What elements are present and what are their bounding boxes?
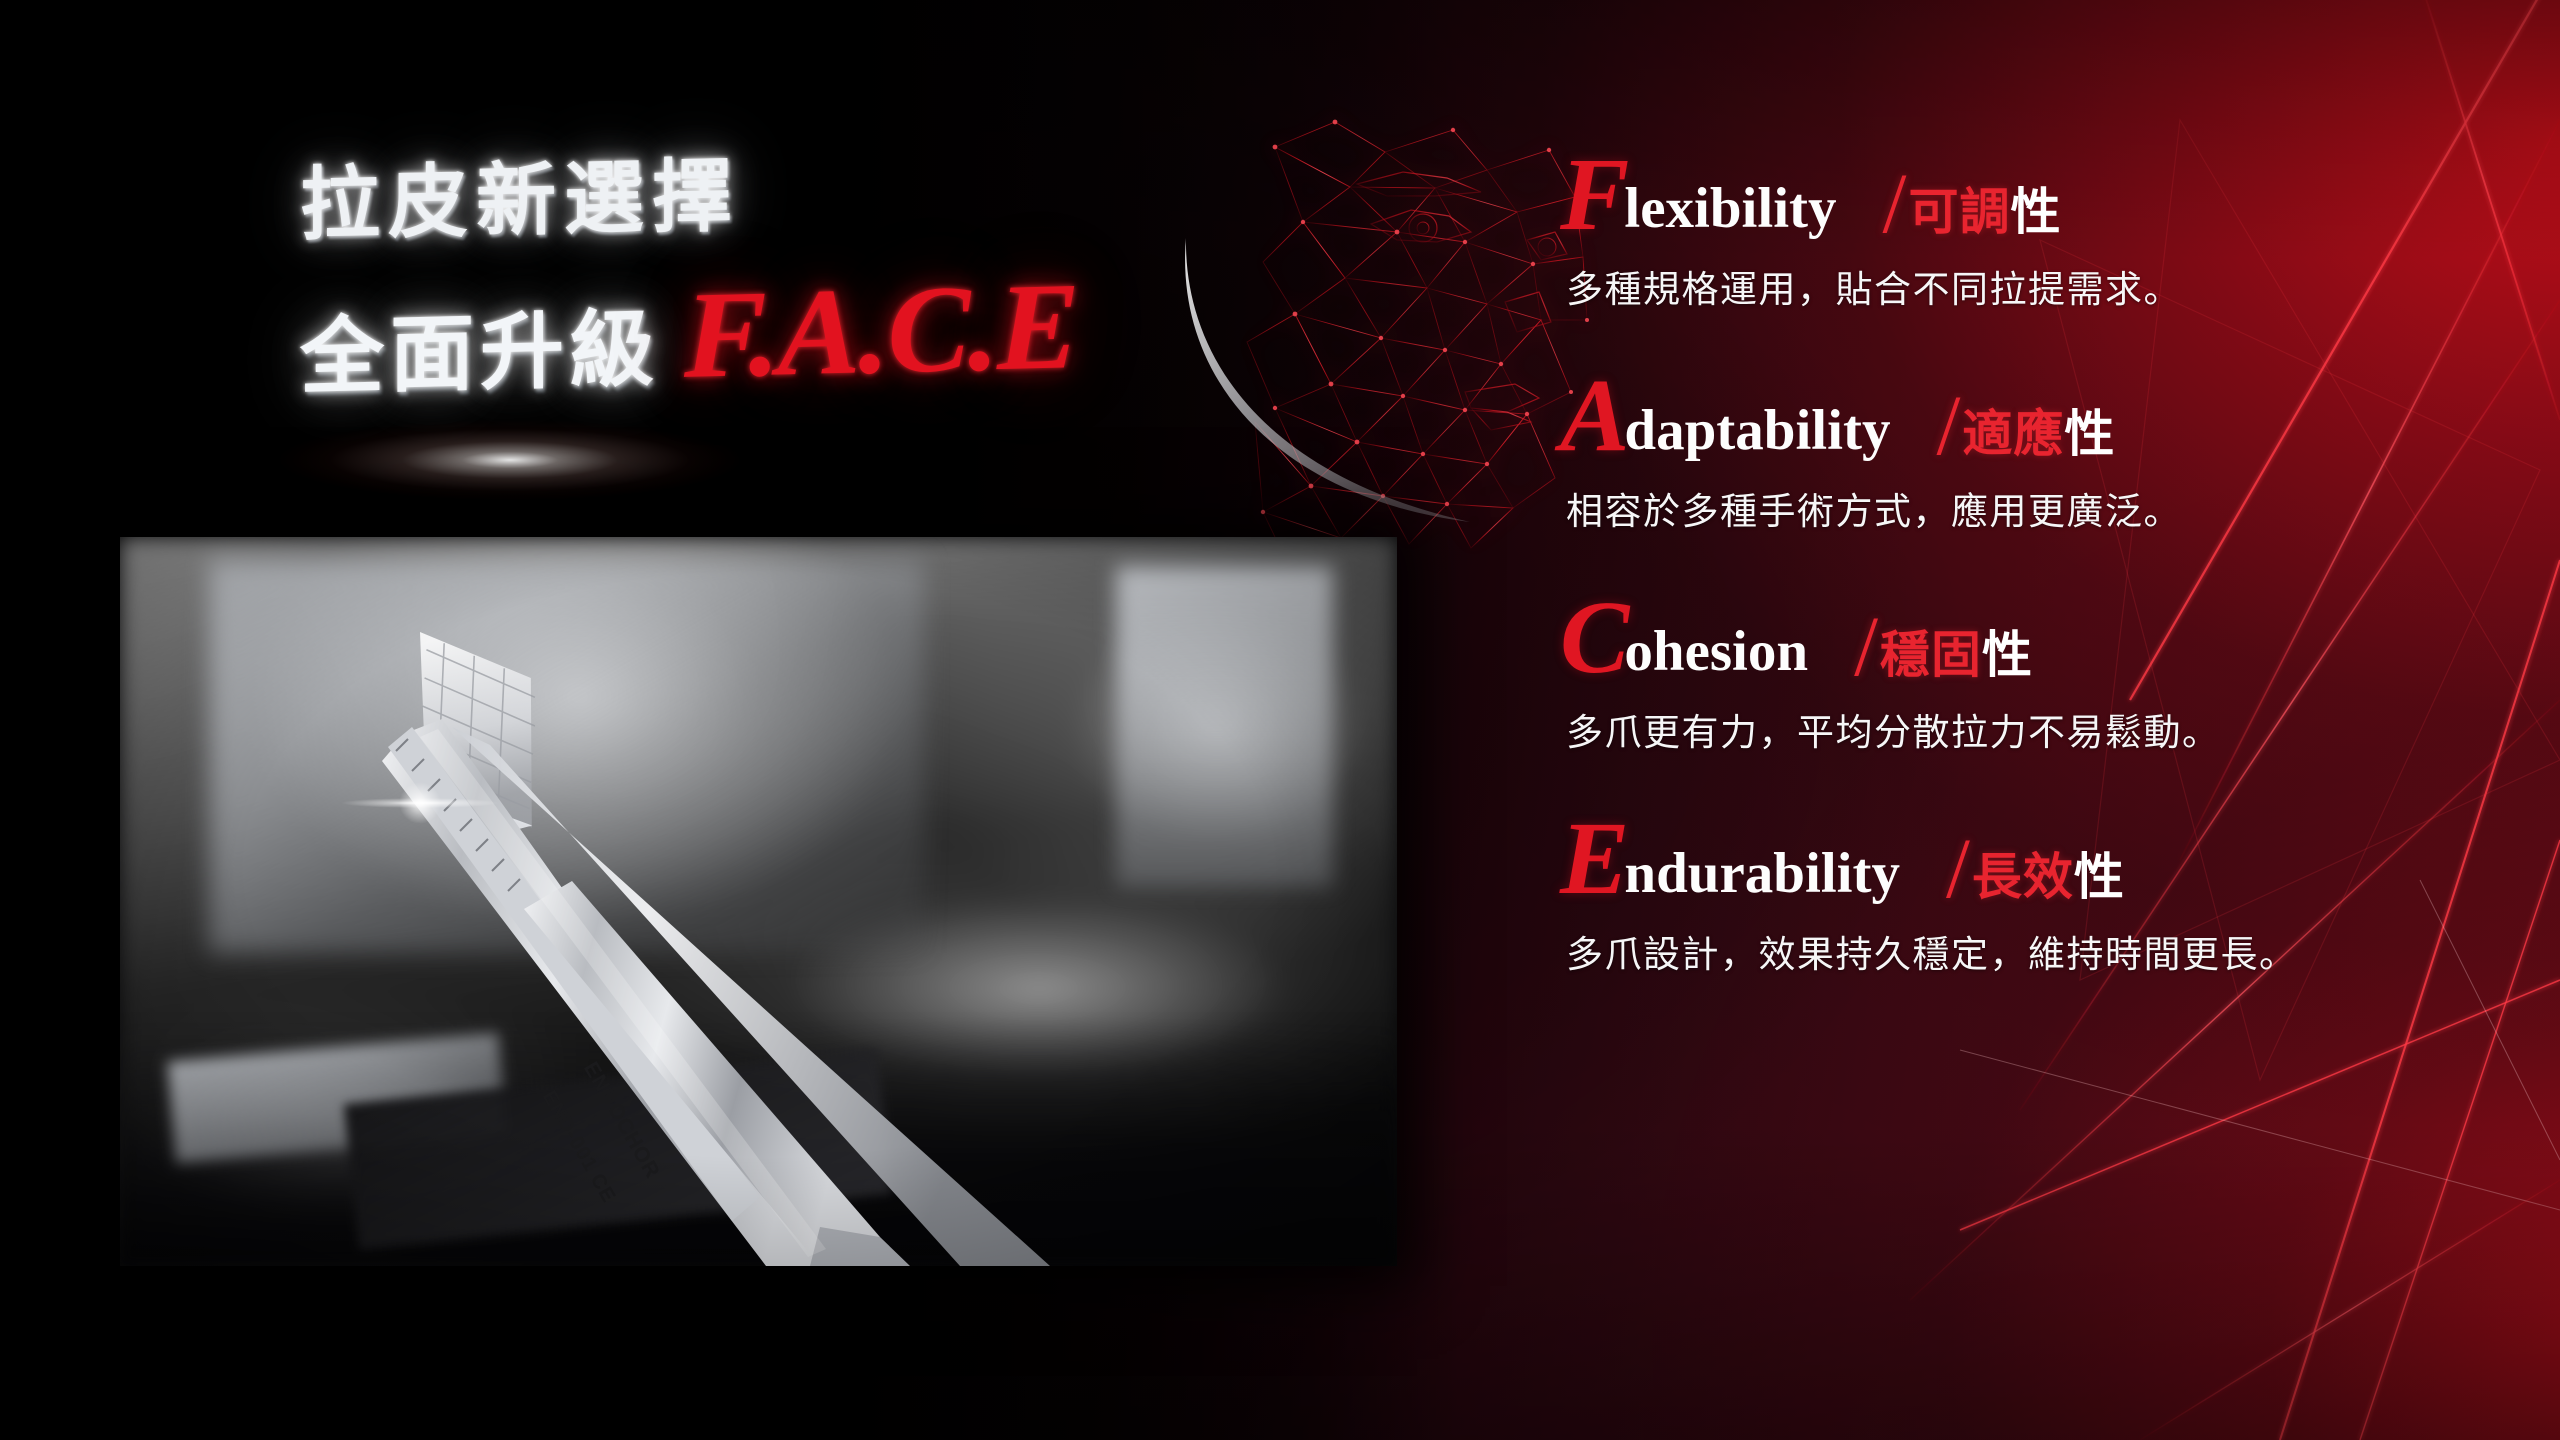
feature-description: 多爪更有力，平均分散拉力不易鬆動。 (1566, 702, 2520, 756)
feature-word-remainder: ndurability (1624, 845, 1900, 904)
feature-initial-letter: A (1560, 371, 1626, 460)
feature-chinese-group: / 長效 性 (1946, 835, 2125, 904)
feature-word-remainder: ohesion (1624, 623, 1808, 682)
feature-list: F lexibility / 可調 性 多種規格運用，貼合不同拉提需求。 A d… (1560, 150, 2520, 1036)
hero-photo: ENDOCHOR END-001 CE (120, 537, 1397, 1266)
feature-initial-letter: C (1560, 593, 1626, 682)
title-face-wordmark: F.A.C.E (684, 255, 1078, 407)
feature-chinese-red: 長效 (1972, 852, 2074, 902)
page-title: 拉皮新選擇 全面升級 F.A.C.E (300, 130, 1300, 404)
feature-heading: E ndurability / 長效 性 (1560, 814, 2520, 903)
feature-heading: C ohesion / 穩固 性 (1560, 593, 2520, 682)
slash-separator-icon: / (1854, 613, 1878, 680)
feature-chinese-red: 穩固 (1880, 630, 1982, 680)
feature-heading: F lexibility / 可調 性 (1560, 150, 2520, 239)
feature-initial-letter: F (1560, 150, 1626, 239)
feature-chinese-group: / 穩固 性 (1854, 613, 2033, 682)
slash-separator-icon: / (1883, 170, 1907, 237)
feature-item-endurability: E ndurability / 長效 性 多爪設計，效果持久穩定，維持時間更長。 (1560, 814, 2520, 977)
feature-chinese-white: 性 (2064, 409, 2115, 459)
feature-chinese-white: 性 (1982, 630, 2033, 680)
feature-item-flexibility: F lexibility / 可調 性 多種規格運用，貼合不同拉提需求。 (1560, 150, 2520, 313)
feature-initial-letter: E (1560, 814, 1626, 903)
title-line-2-chinese: 全面升級 (300, 281, 660, 411)
feature-chinese-white: 性 (2074, 852, 2125, 902)
slash-separator-icon: / (1936, 392, 1960, 459)
feature-item-cohesion: C ohesion / 穩固 性 多爪更有力，平均分散拉力不易鬆動。 (1560, 593, 2520, 756)
feature-chinese-group: / 可調 性 (1883, 170, 2062, 239)
feature-heading: A daptability / 適應 性 (1560, 371, 2520, 460)
feature-description: 多種規格運用，貼合不同拉提需求。 (1566, 259, 2520, 313)
feature-chinese-white: 性 (2010, 187, 2061, 237)
feature-word-remainder: daptability (1624, 402, 1890, 461)
feature-word-remainder: lexibility (1624, 180, 1836, 239)
feature-chinese-group: / 適應 性 (1936, 392, 2115, 461)
feature-chinese-red: 適應 (1962, 409, 2064, 459)
photo-vignette (120, 537, 1397, 1266)
slash-separator-icon: / (1946, 835, 1970, 902)
feature-description: 相容於多種手術方式，應用更廣泛。 (1566, 481, 2520, 535)
title-line-1: 拉皮新選擇 (300, 120, 1300, 257)
feature-item-adaptability: A daptability / 適應 性 相容於多種手術方式，應用更廣泛。 (1560, 371, 2520, 534)
feature-description: 多爪設計，效果持久穩定，維持時間更長。 (1566, 924, 2520, 978)
poster-canvas: 拉皮新選擇 全面升級 F.A.C.E (0, 0, 2560, 1440)
title-line-2: 全面升級 F.A.C.E (300, 250, 1300, 416)
feature-chinese-red: 可調 (1908, 187, 2010, 237)
